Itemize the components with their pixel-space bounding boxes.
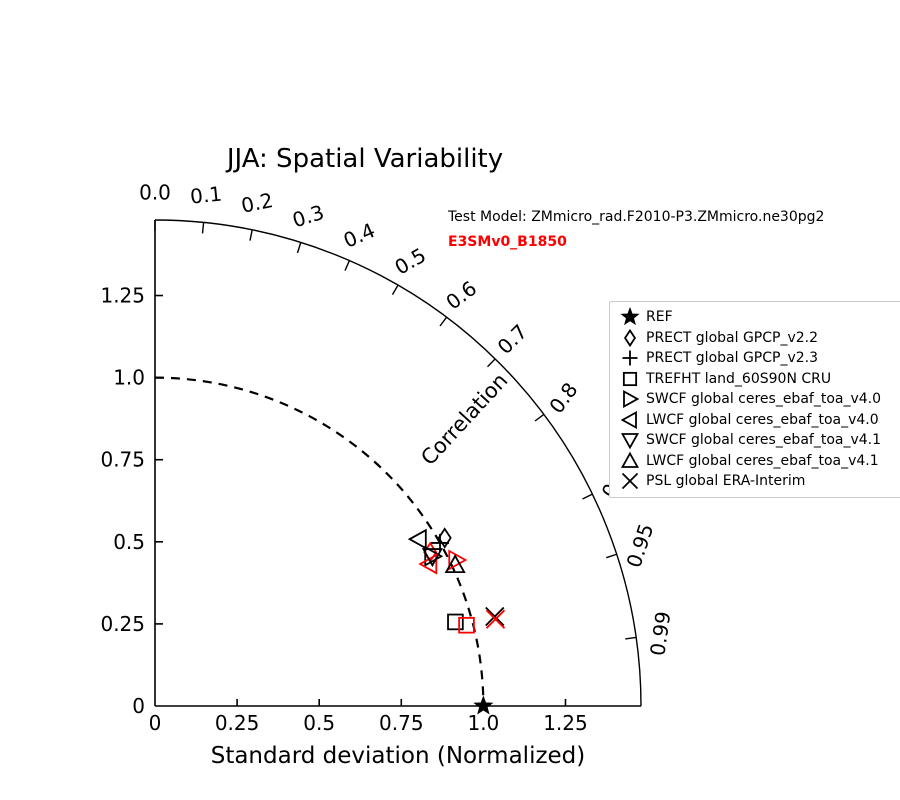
outer-arc bbox=[155, 220, 641, 706]
legend-marker-triangle-left bbox=[614, 410, 646, 430]
reference-std-arc bbox=[155, 378, 483, 706]
y-tick-label: 1.25 bbox=[100, 284, 145, 308]
legend-marker-triangle-up bbox=[614, 451, 646, 471]
y-tick-label: 1.0 bbox=[113, 366, 145, 390]
y-tick-label: 0.25 bbox=[100, 612, 145, 636]
correlation-tick-mark bbox=[393, 285, 399, 295]
x-tick-label: 0.25 bbox=[215, 711, 260, 735]
correlation-tick-mark bbox=[440, 317, 447, 326]
correlation-axis-label: Correlation bbox=[416, 368, 512, 469]
legend-item[interactable]: PSL global ERA-Interim bbox=[614, 471, 900, 492]
legend-marker-triangle-right bbox=[614, 389, 646, 409]
x-axis-label: Standard deviation (Normalized) bbox=[211, 743, 586, 769]
chart-title: JJA: Spatial Variability bbox=[225, 144, 503, 174]
correlation-tick-label: 0.7 bbox=[493, 320, 533, 359]
legend-item[interactable]: PRECT global GPCP_v2.2 bbox=[614, 328, 900, 349]
diamond-icon bbox=[625, 330, 635, 345]
x-tick-label: 0.75 bbox=[379, 711, 424, 735]
y-tick-label: 0.5 bbox=[113, 530, 145, 554]
legend-item-label: LWCF global ceres_ebaf_toa_v4.0 bbox=[646, 413, 879, 427]
legend-item[interactable]: LWCF global ceres_ebaf_toa_v4.1 bbox=[614, 451, 900, 472]
legend-item[interactable]: SWCF global ceres_ebaf_toa_v4.1 bbox=[614, 430, 900, 451]
correlation-tick-label: 0.0 bbox=[139, 181, 171, 205]
correlation-tick-mark bbox=[298, 242, 301, 252]
data-points bbox=[410, 529, 505, 713]
legend-item[interactable]: PRECT global GPCP_v2.3 bbox=[614, 348, 900, 369]
correlation-tick-label: 0.2 bbox=[239, 188, 275, 218]
correlation-tick-mark bbox=[488, 359, 496, 367]
legend-item[interactable]: REF bbox=[614, 307, 900, 328]
legend-item-label: PRECT global GPCP_v2.2 bbox=[646, 331, 818, 345]
legend-item-label: PRECT global GPCP_v2.3 bbox=[646, 351, 818, 365]
legend-box: REFPRECT global GPCP_v2.2PRECT global GP… bbox=[609, 301, 900, 498]
triangle-up-icon bbox=[623, 453, 638, 467]
triangle-left-icon bbox=[623, 412, 637, 427]
legend-marker-cross bbox=[614, 471, 646, 491]
taylor-diagram-figure: JJA: Spatial Variability00.250.50.751.01… bbox=[0, 0, 900, 800]
legend-item-label: PSL global ERA-Interim bbox=[646, 474, 805, 488]
x-tick-label: 0 bbox=[149, 711, 162, 735]
square-icon bbox=[448, 615, 463, 630]
triangle-left-icon bbox=[410, 530, 426, 548]
correlation-tick-mark bbox=[606, 554, 616, 557]
correlation-tick-mark bbox=[250, 230, 252, 241]
correlation-tick-label: 0.1 bbox=[189, 182, 223, 209]
x-tick-label: 1.25 bbox=[543, 711, 588, 735]
y-tick-label: 0.75 bbox=[100, 448, 145, 472]
legend-item-label: REF bbox=[646, 310, 673, 324]
square-icon bbox=[624, 373, 636, 385]
correlation-tick-mark bbox=[203, 222, 204, 233]
legend-marker-triangle-down bbox=[614, 430, 646, 450]
correlation-tick-mark bbox=[583, 494, 593, 499]
correlation-tick-label: 0.3 bbox=[289, 200, 327, 232]
legend-marker-square bbox=[614, 369, 646, 389]
legend-marker-star-filled bbox=[614, 307, 646, 327]
legend-item-label: SWCF global ceres_ebaf_toa_v4.0 bbox=[646, 392, 881, 406]
reference-model-annotation: E3SMv0_B1850 bbox=[448, 234, 567, 250]
legend-item-label: TREFHT land_60S90N CRU bbox=[646, 372, 831, 386]
legend-marker-diamond bbox=[614, 328, 646, 348]
triangle-right-icon bbox=[624, 392, 638, 407]
correlation-tick-mark bbox=[535, 414, 544, 421]
legend-marker-plus bbox=[614, 348, 646, 368]
legend-item-label: SWCF global ceres_ebaf_toa_v4.1 bbox=[646, 433, 881, 447]
legend-item[interactable]: SWCF global ceres_ebaf_toa_v4.0 bbox=[614, 389, 900, 410]
correlation-tick-label: 0.99 bbox=[645, 610, 675, 657]
correlation-tick-label: 0.95 bbox=[622, 521, 659, 571]
square-icon bbox=[459, 618, 474, 633]
correlation-tick-label: 0.5 bbox=[390, 243, 430, 280]
correlation-tick-mark bbox=[625, 637, 636, 639]
correlation-tick-label: 0.8 bbox=[544, 378, 582, 418]
triangle-down-icon bbox=[623, 434, 638, 448]
legend-item-label: LWCF global ceres_ebaf_toa_v4.1 bbox=[646, 454, 879, 468]
correlation-tick-mark bbox=[345, 261, 349, 271]
correlation-tick-label: 0.4 bbox=[340, 218, 379, 253]
correlation-tick-label: 0.6 bbox=[441, 276, 481, 314]
x-tick-label: 1.0 bbox=[467, 711, 499, 735]
legend-item[interactable]: TREFHT land_60S90N CRU bbox=[614, 369, 900, 390]
test-model-annotation: Test Model: ZMmicro_rad.F2010-P3.ZMmicro… bbox=[447, 209, 824, 225]
star-filled-icon bbox=[623, 310, 637, 324]
y-tick-label: 0 bbox=[132, 694, 145, 718]
x-tick-label: 0.5 bbox=[303, 711, 335, 735]
legend-item[interactable]: LWCF global ceres_ebaf_toa_v4.0 bbox=[614, 410, 900, 431]
